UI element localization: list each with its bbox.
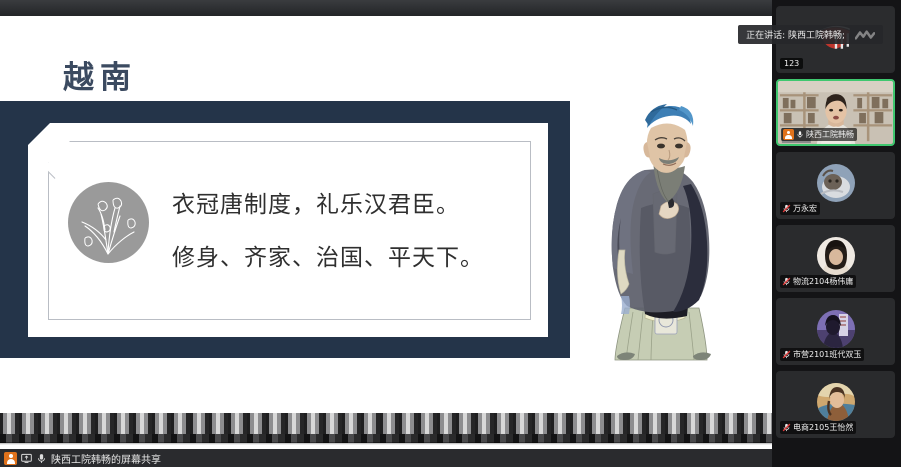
participant-name-label: 物流2104杨伟庸 bbox=[780, 275, 856, 288]
screen-share-status-text: 陕西工院韩畅的屏幕共享 bbox=[51, 451, 161, 466]
share-window-bezel bbox=[0, 0, 772, 16]
microphone-muted-icon bbox=[782, 350, 791, 359]
confucius-portrait-illustration bbox=[581, 98, 751, 370]
presentation-slide: 越南 bbox=[0, 16, 772, 449]
participant-avatar-image bbox=[817, 310, 855, 348]
participant-avatar-image bbox=[817, 164, 855, 202]
participant-tile[interactable]: 物流2104杨伟庸 bbox=[776, 225, 895, 292]
participant-tile[interactable]: 市营2101班代双玉 bbox=[776, 298, 895, 365]
participant-name-label: 万永宏 bbox=[780, 202, 820, 215]
host-avatar-icon bbox=[783, 129, 794, 140]
active-speaker-banner: 正在讲话: 陕西工院韩畅; bbox=[738, 25, 883, 44]
quote-line-2: 修身、齐家、治国、平天下。 bbox=[172, 247, 502, 270]
participant-avatar-image bbox=[817, 237, 855, 275]
participant-name: 电商2105王怡然 bbox=[793, 422, 853, 433]
microphone-muted-icon bbox=[782, 204, 791, 213]
frieze-shadow bbox=[0, 442, 772, 445]
participant-filmstrip[interactable]: 123 bbox=[772, 0, 901, 467]
host-avatar-icon bbox=[4, 452, 17, 465]
participant-tile[interactable]: 万永宏 bbox=[776, 152, 895, 219]
screen-share-status-bar: 陕西工院韩畅的屏幕共享 bbox=[0, 449, 772, 467]
participant-name-label: 市营2101班代双玉 bbox=[780, 348, 864, 361]
participant-avatar-image bbox=[817, 383, 855, 421]
participant-name: 陕西工院韩畅 bbox=[806, 129, 854, 140]
slide-title: 越南 bbox=[63, 63, 137, 94]
decorative-architectural-frieze bbox=[0, 405, 772, 449]
quote-line-1: 衣冠唐制度，礼乐汉君臣。 bbox=[172, 194, 502, 217]
microphone-icon bbox=[796, 130, 804, 139]
microphone-muted-icon bbox=[782, 423, 791, 432]
participant-name-label: 电商2105王怡然 bbox=[780, 421, 856, 434]
slide-quote-block: 衣冠唐制度，礼乐汉君臣。 修身、齐家、治国、平天下。 bbox=[172, 194, 502, 270]
participant-name: 市营2101班代双玉 bbox=[793, 349, 861, 360]
shared-screen-area[interactable]: 越南 bbox=[0, 16, 772, 449]
participant-name: 万永宏 bbox=[793, 203, 817, 214]
audio-wave-icon bbox=[855, 30, 875, 40]
participant-tile[interactable]: 电商2105王怡然 bbox=[776, 371, 895, 438]
conference-window: 越南 bbox=[0, 0, 901, 467]
active-speaker-text: 正在讲话: 陕西工院韩畅; bbox=[746, 28, 845, 41]
participant-name-label: 123 bbox=[780, 58, 803, 69]
microphone-muted-icon bbox=[782, 277, 791, 286]
participant-name-label: 陕西工院韩畅 bbox=[781, 128, 857, 141]
participant-tile-active-speaker[interactable]: 陕西工院韩畅 bbox=[776, 79, 895, 146]
monitor-share-icon bbox=[21, 453, 32, 464]
microphone-icon bbox=[36, 453, 47, 464]
participant-name: 物流2104杨伟庸 bbox=[793, 276, 853, 287]
participant-name: 123 bbox=[784, 59, 799, 68]
orchid-medallion-icon bbox=[68, 182, 149, 263]
